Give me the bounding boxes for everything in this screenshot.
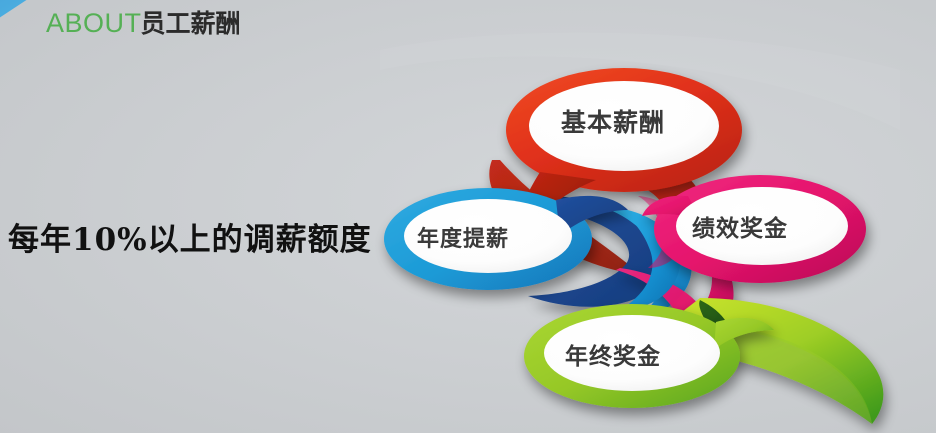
callout-label-base-salary: 基本薪酬 — [561, 103, 665, 139]
slide-canvas: ABOUT 员工薪酬 每年10%以上的调薪额度 — [0, 0, 936, 433]
page-title-en: ABOUT — [46, 8, 142, 39]
callout-label-annual-raise: 年度提薪 — [417, 221, 509, 253]
caption-text: 每年10%以上的调薪额度 — [8, 214, 372, 259]
callout-label-performance-bonus: 绩效奖金 — [692, 209, 788, 243]
page-title-cn: 员工薪酬 — [141, 4, 241, 40]
callout-label-year-end-bonus: 年终奖金 — [565, 337, 661, 371]
page-title: ABOUT 员工薪酬 — [46, 4, 241, 40]
